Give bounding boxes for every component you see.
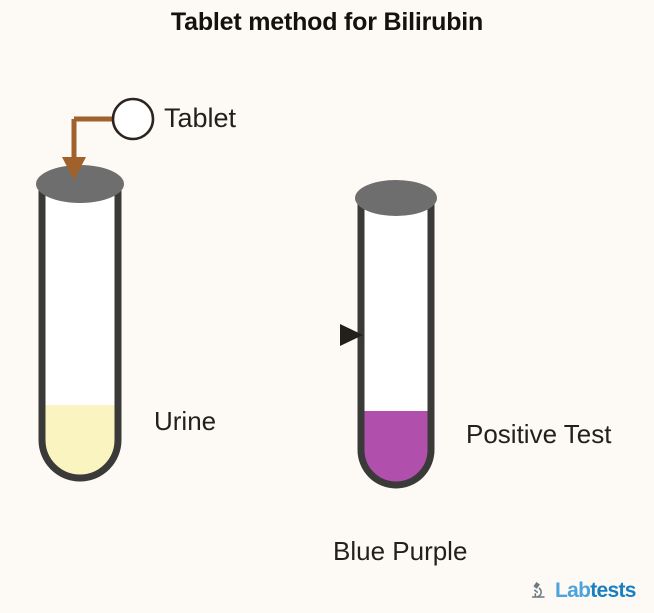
diagram-graphics (0, 0, 654, 613)
brand-wordmark: Labtests (555, 580, 636, 601)
positive-test-label: Positive Test (466, 419, 611, 450)
brand-word-lab: Lab (555, 579, 590, 602)
bilirubin-tablet-method-diagram: Tablet method for Bilirubin (0, 0, 654, 613)
tablet-label: Tablet (164, 103, 236, 134)
reaction-arrow (131, 324, 363, 346)
tablet-callout (62, 99, 153, 180)
brand-word-tests: tests (590, 579, 636, 602)
urine-label: Urine (154, 406, 216, 437)
left-tube-cap (36, 165, 124, 203)
tablet-icon (113, 99, 153, 139)
blue-purple-label: Blue Purple (333, 536, 467, 567)
brand-logo: Labtests (528, 576, 636, 604)
left-test-tube (30, 165, 130, 525)
right-tube-cap (355, 180, 437, 216)
right-test-tube (350, 180, 445, 531)
microscope-icon (528, 579, 550, 601)
